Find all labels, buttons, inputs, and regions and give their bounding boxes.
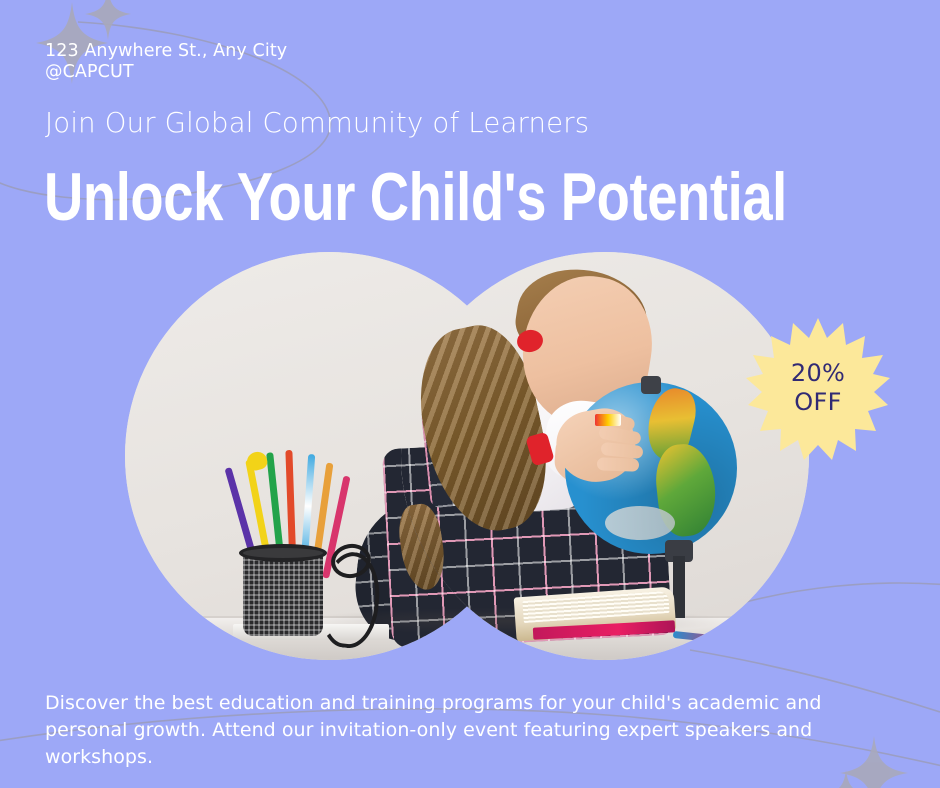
subheadline: Join Our Global Community of Learners [45,107,589,139]
body-copy: Discover the best education and training… [45,690,900,771]
poster-canvas: 123 Anywhere St., Any City @CAPCUT Join … [0,0,940,788]
badge-label: OFF [794,388,841,417]
social-handle: @CAPCUT [45,62,287,83]
address-line: 123 Anywhere St., Any City [45,41,287,62]
badge-percent: 20% [791,359,845,388]
sparkle-icon-bottom-small [825,770,867,788]
discount-badge[interactable]: 20% OFF [746,316,890,460]
sparkle-icon-top-small [85,0,131,40]
hero-photo [125,252,809,660]
contact-block: 123 Anywhere St., Any City @CAPCUT [45,41,287,84]
badge-text-group: 20% OFF [746,316,890,460]
page-title: Unlock Your Child's Potential [44,163,787,232]
